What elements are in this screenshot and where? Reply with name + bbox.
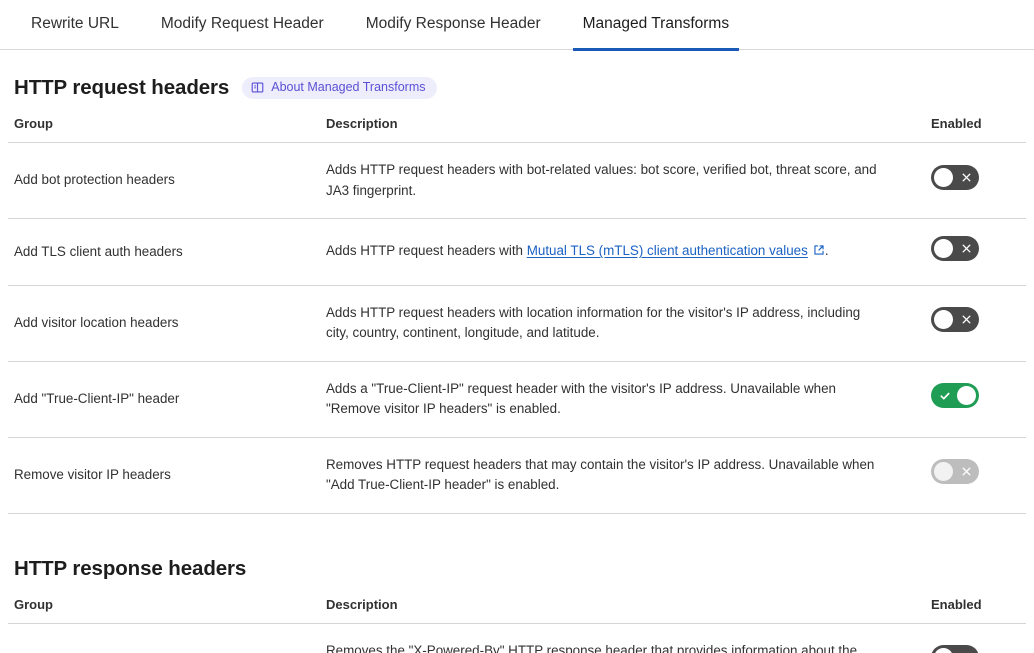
about-pill-label: About Managed Transforms bbox=[271, 80, 425, 95]
toggle-knob bbox=[934, 310, 953, 329]
column-header-enabled: Enabled bbox=[908, 116, 1026, 143]
table-row: Add bot protection headersAdds HTTP requ… bbox=[8, 143, 1026, 219]
tab-bar: Rewrite URLModify Request HeaderModify R… bbox=[0, 0, 1034, 50]
section-1: HTTP request headersAbout Managed Transf… bbox=[8, 76, 1026, 514]
row-enabled-cell bbox=[908, 437, 1026, 513]
x-icon bbox=[961, 459, 972, 484]
row-description-text: Adds HTTP request headers with bot-relat… bbox=[326, 162, 877, 198]
table-row: Add "True-Client-IP" headerAdds a "True-… bbox=[8, 361, 1026, 437]
column-header-description: Description bbox=[320, 116, 908, 143]
table-row: Add TLS client auth headersAdds HTTP req… bbox=[8, 219, 1026, 286]
row-description-text: Adds a "True-Client-IP" request header w… bbox=[326, 381, 836, 417]
row-description-text: Removes the "X-Powered-By" HTTP response… bbox=[326, 643, 857, 653]
row-description: Removes the "X-Powered-By" HTTP response… bbox=[320, 623, 908, 653]
book-icon bbox=[251, 81, 264, 94]
section-2: HTTP response headersGroupDescriptionEna… bbox=[8, 557, 1026, 653]
section-title: HTTP response headers bbox=[14, 557, 246, 581]
external-link-icon bbox=[813, 242, 825, 263]
about-managed-transforms-pill[interactable]: About Managed Transforms bbox=[242, 77, 437, 99]
row-description: Adds HTTP request headers with Mutual TL… bbox=[320, 219, 908, 286]
row-group-name: Add "True-Client-IP" header bbox=[8, 361, 320, 437]
row-group-name: Add visitor location headers bbox=[8, 285, 320, 361]
table-row: Add visitor location headersAdds HTTP re… bbox=[8, 285, 1026, 361]
managed-transforms-table: GroupDescriptionEnabledRemove "X-Powered… bbox=[8, 597, 1026, 653]
toggle-knob bbox=[934, 462, 953, 481]
column-header-group: Group bbox=[8, 116, 320, 143]
row-description-text: Adds HTTP request headers with location … bbox=[326, 305, 860, 341]
row-enabled-cell bbox=[908, 623, 1026, 653]
x-icon bbox=[961, 236, 972, 261]
tab-modify-response-header[interactable]: Modify Response Header bbox=[345, 0, 562, 50]
x-icon bbox=[961, 165, 972, 190]
enabled-toggle[interactable] bbox=[931, 307, 979, 332]
enabled-toggle bbox=[931, 459, 979, 484]
tab-modify-request-header[interactable]: Modify Request Header bbox=[140, 0, 345, 50]
x-icon bbox=[961, 645, 972, 653]
managed-transforms-table: GroupDescriptionEnabledAdd bot protectio… bbox=[8, 116, 1026, 514]
enabled-toggle[interactable] bbox=[931, 383, 979, 408]
enabled-toggle[interactable] bbox=[931, 236, 979, 261]
row-group-name: Add TLS client auth headers bbox=[8, 219, 320, 286]
x-icon bbox=[961, 307, 972, 332]
section-header: HTTP response headers bbox=[8, 557, 1026, 581]
table-row: Remove "X-Powered-By" headersRemoves the… bbox=[8, 623, 1026, 653]
section-header: HTTP request headersAbout Managed Transf… bbox=[8, 76, 1026, 100]
column-header-group: Group bbox=[8, 597, 320, 624]
row-group-name: Add bot protection headers bbox=[8, 143, 320, 219]
row-group-name: Remove visitor IP headers bbox=[8, 437, 320, 513]
section-title: HTTP request headers bbox=[14, 76, 229, 100]
table-row: Remove visitor IP headersRemoves HTTP re… bbox=[8, 437, 1026, 513]
tab-managed-transforms[interactable]: Managed Transforms bbox=[562, 0, 750, 50]
table-header-row: GroupDescriptionEnabled bbox=[8, 116, 1026, 143]
row-description: Adds HTTP request headers with location … bbox=[320, 285, 908, 361]
tab-rewrite-url[interactable]: Rewrite URL bbox=[10, 0, 140, 50]
row-enabled-cell bbox=[908, 143, 1026, 219]
toggle-knob bbox=[934, 239, 953, 258]
row-description: Removes HTTP request headers that may co… bbox=[320, 437, 908, 513]
table-header-row: GroupDescriptionEnabled bbox=[8, 597, 1026, 624]
row-enabled-cell bbox=[908, 285, 1026, 361]
page-content: HTTP request headersAbout Managed Transf… bbox=[0, 76, 1034, 653]
enabled-toggle[interactable] bbox=[931, 165, 979, 190]
row-enabled-cell bbox=[908, 361, 1026, 437]
toggle-knob bbox=[957, 386, 976, 405]
column-header-description: Description bbox=[320, 597, 908, 624]
check-icon bbox=[939, 383, 951, 408]
enabled-toggle[interactable] bbox=[931, 645, 979, 653]
row-description: Adds HTTP request headers with bot-relat… bbox=[320, 143, 908, 219]
column-header-enabled: Enabled bbox=[908, 597, 1026, 624]
toggle-knob bbox=[934, 648, 953, 653]
row-description-text: Removes HTTP request headers that may co… bbox=[326, 457, 874, 493]
mtls-docs-link[interactable]: Mutual TLS (mTLS) client authentication … bbox=[527, 243, 808, 258]
toggle-knob bbox=[934, 168, 953, 187]
row-enabled-cell bbox=[908, 219, 1026, 286]
row-group-name: Remove "X-Powered-By" headers bbox=[8, 623, 320, 653]
row-description: Adds a "True-Client-IP" request header w… bbox=[320, 361, 908, 437]
